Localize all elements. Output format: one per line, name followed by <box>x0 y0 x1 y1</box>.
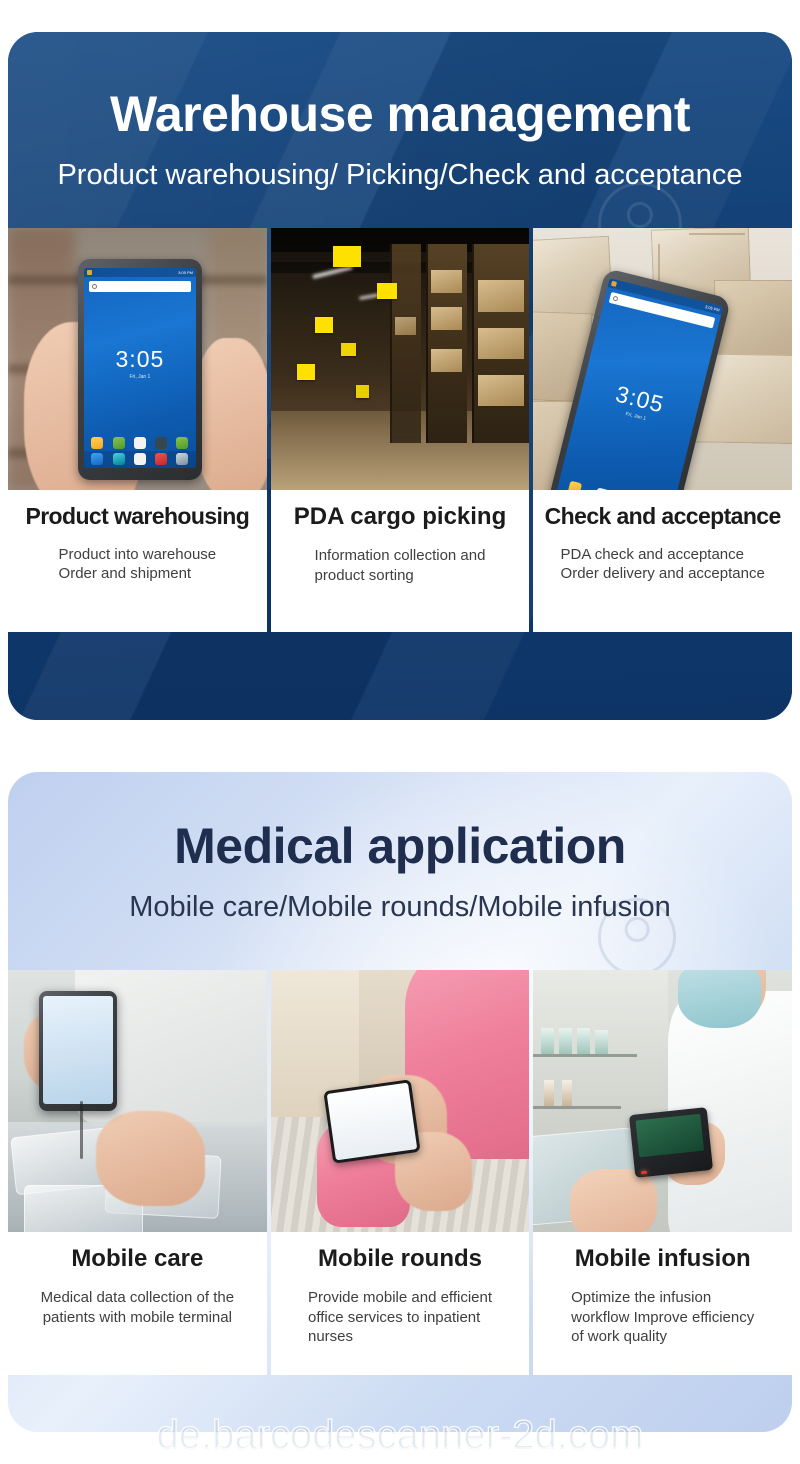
settings-app-icon <box>176 437 188 449</box>
card-body: Product warehousing Product into warehou… <box>8 490 267 632</box>
pda-device: 3:05 PM 3:05 Fri, Jan 1 <box>78 259 202 479</box>
card-body: Mobile care Medical data collection of t… <box>8 1232 267 1375</box>
card-title: PDA cargo picking <box>294 504 506 530</box>
pda-status-time: 3:05 PM <box>178 270 193 275</box>
location-tag <box>341 343 357 356</box>
warehouse-heading-block: Warehouse management Product warehousing… <box>8 88 792 192</box>
email-app-icon <box>567 481 582 490</box>
location-tag <box>377 283 398 299</box>
page-title: Warehouse management <box>8 88 792 141</box>
card-title: Mobile rounds <box>318 1246 482 1272</box>
card-description: Optimize the infusion workflow Improve e… <box>571 1288 754 1346</box>
apps-drawer-icon <box>134 453 146 465</box>
pda-status-bar: 3:05 PM <box>84 268 196 277</box>
card-mobile-rounds[interactable]: Mobile rounds Provide mobile and efficie… <box>271 970 530 1375</box>
page-title: Medical application <box>8 820 792 873</box>
card-title: Mobile infusion <box>575 1246 751 1272</box>
card-product-warehousing[interactable]: 3:05 PM 3:05 Fri, Jan 1 <box>8 228 267 632</box>
card-description: Medical data collection of the patients … <box>41 1288 234 1326</box>
card-photo-hand-holding-pda: 3:05 PM 3:05 Fri, Jan 1 <box>8 228 267 490</box>
card-photo-nurse-with-terminal <box>8 970 267 1232</box>
hand <box>96 1111 205 1205</box>
scanner-screen <box>635 1114 704 1157</box>
card-body: PDA cargo picking Information collection… <box>271 490 530 632</box>
card-photo-pda-on-boxes: 3:05 PM 3:05 Fri, Jan 1 <box>533 228 792 490</box>
email-app-icon <box>91 437 103 449</box>
pda-search-bar <box>89 281 191 292</box>
pda-scanner-device <box>629 1108 713 1179</box>
card-photo-nurse-at-bedside <box>271 970 530 1232</box>
location-tag <box>333 246 361 267</box>
card-photo-nurse-scanning-iv-bag <box>533 970 792 1232</box>
pda-screen <box>43 996 113 1105</box>
camera-app-icon <box>176 453 188 465</box>
card-description: PDA check and acceptance Order delivery … <box>561 545 765 583</box>
card-body: Mobile rounds Provide mobile and efficie… <box>271 1232 530 1375</box>
medical-card-row: Mobile care Medical data collection of t… <box>8 970 792 1375</box>
search-icon <box>92 284 97 289</box>
pda-clock-widget: 3:05 Fri, Jan 1 <box>84 292 196 436</box>
product-application-poster: W Warehouse management Product warehousi… <box>0 0 800 1464</box>
pda-screen: 3:05 PM 3:05 Fri, Jan 1 <box>84 268 196 467</box>
music-app-icon <box>155 437 167 449</box>
pda-clock-date: Fri, Jan 1 <box>129 374 150 380</box>
card-mobile-care[interactable]: Mobile care Medical data collection of t… <box>8 970 267 1375</box>
messages-app-icon <box>113 453 125 465</box>
calendar-app-icon <box>134 437 146 449</box>
page-subtitle: Mobile care/Mobile rounds/Mobile infusio… <box>8 891 792 924</box>
smartphone-device <box>323 1080 420 1165</box>
card-mobile-infusion[interactable]: Mobile infusion Optimize the infusion wo… <box>533 970 792 1375</box>
warehouse-card-row: 3:05 PM 3:05 Fri, Jan 1 <box>8 228 792 632</box>
search-icon <box>612 296 618 302</box>
scanner-led-icon <box>640 1171 646 1175</box>
smartphone-screen <box>326 1083 417 1161</box>
card-title: Mobile care <box>71 1246 203 1272</box>
card-title: Check and acceptance <box>545 504 781 529</box>
device-strap <box>80 1101 83 1159</box>
scanner-app-icon <box>155 453 167 465</box>
location-tag <box>315 317 333 333</box>
card-description: Provide mobile and efficient office serv… <box>308 1288 492 1346</box>
card-body: Mobile infusion Optimize the infusion wo… <box>533 1232 792 1375</box>
location-tag <box>297 364 315 380</box>
card-pda-cargo-picking[interactable]: PDA cargo picking Information collection… <box>271 228 530 632</box>
face-mask <box>678 970 761 1028</box>
location-tag <box>356 385 369 398</box>
medical-heading-block: Medical application Mobile care/Mobile r… <box>8 820 792 924</box>
pda-app-row <box>84 437 196 451</box>
phone-app-icon <box>91 453 103 465</box>
card-photo-warehouse-racking <box>271 228 530 490</box>
section-warehouse: W Warehouse management Product warehousi… <box>8 32 792 720</box>
card-description: Product into warehouse Order and shipmen… <box>59 545 217 583</box>
pda-status-time: 3:05 PM <box>704 305 720 313</box>
page-subtitle: Product warehousing/ Picking/Check and a… <box>8 159 792 192</box>
card-description: Information collection and product sorti… <box>315 546 486 584</box>
pda-dock <box>84 451 196 468</box>
card-body: Check and acceptance PDA check and accep… <box>533 490 792 632</box>
card-check-and-acceptance[interactable]: 3:05 PM 3:05 Fri, Jan 1 <box>533 228 792 632</box>
pda-device <box>39 991 117 1112</box>
hand <box>570 1169 658 1232</box>
hand-thumb <box>194 338 266 490</box>
section-medical: M Medical application Mobile care/Mobile… <box>8 772 792 1432</box>
pda-clock-time: 3:05 <box>613 383 666 417</box>
card-title: Product warehousing <box>25 504 249 529</box>
pda-clock-time: 3:05 <box>116 348 165 371</box>
gallery-app-icon <box>113 437 125 449</box>
